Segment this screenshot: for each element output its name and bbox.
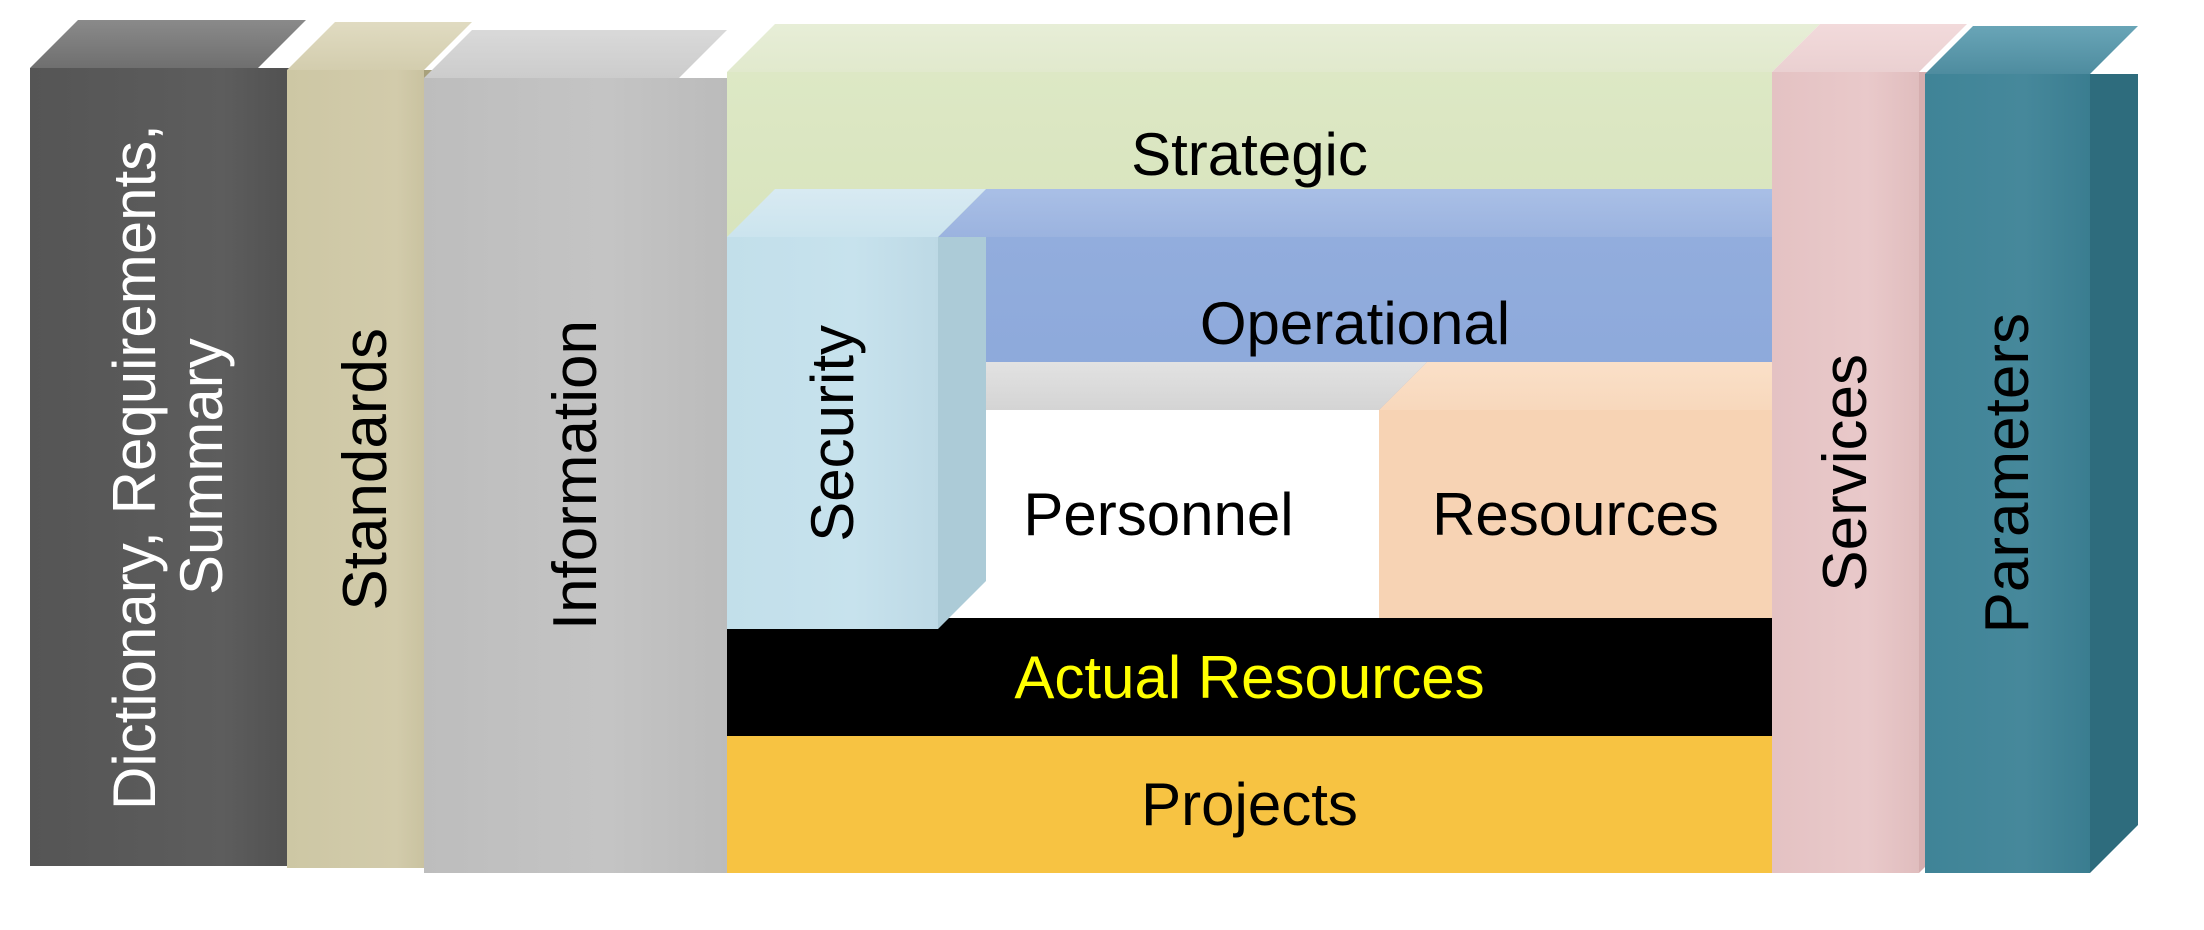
block-top-face <box>424 30 727 78</box>
block-side-face <box>938 237 986 629</box>
band-top-face <box>1379 362 1820 410</box>
block-label-wrap: Dictionary, Requirements, Summary <box>30 68 306 866</box>
band-top-face <box>938 362 1427 410</box>
block-front-face <box>1772 72 1919 873</box>
band-top-face <box>938 189 1820 237</box>
block-top-face <box>727 189 986 237</box>
block-front-face: Dictionary, Requirements, Summary <box>30 68 306 866</box>
block-dictionary-requirements-summary: Dictionary, Requirements, Summary <box>30 20 306 866</box>
band-projects: Projects <box>727 736 1820 873</box>
diagram-canvas: Dictionary, Requirements, Summary Standa… <box>0 0 2204 930</box>
block-side-face <box>2090 74 2138 873</box>
block-front-face <box>727 237 938 629</box>
block-top-face <box>30 20 306 68</box>
block-top-face <box>1925 26 2138 74</box>
band-front-face <box>727 736 1820 873</box>
band-front-face <box>727 618 1820 736</box>
band-resources: Resources <box>1379 362 1820 618</box>
band-front-face <box>1379 410 1772 618</box>
band-front-face <box>938 410 1379 618</box>
block-label: Dictionary, Requirements, Summary <box>101 68 235 866</box>
block-information: Information <box>424 30 727 873</box>
band-top-face <box>727 24 1820 72</box>
block-front-face <box>287 70 444 868</box>
block-parameters: Parameters <box>1925 26 2138 873</box>
band-actual-resources: Actual Resources <box>727 618 1820 736</box>
block-front-face <box>424 78 727 873</box>
block-front-face <box>1925 74 2090 873</box>
band-personnel: Personnel <box>938 362 1427 618</box>
block-security: Security <box>727 189 986 629</box>
